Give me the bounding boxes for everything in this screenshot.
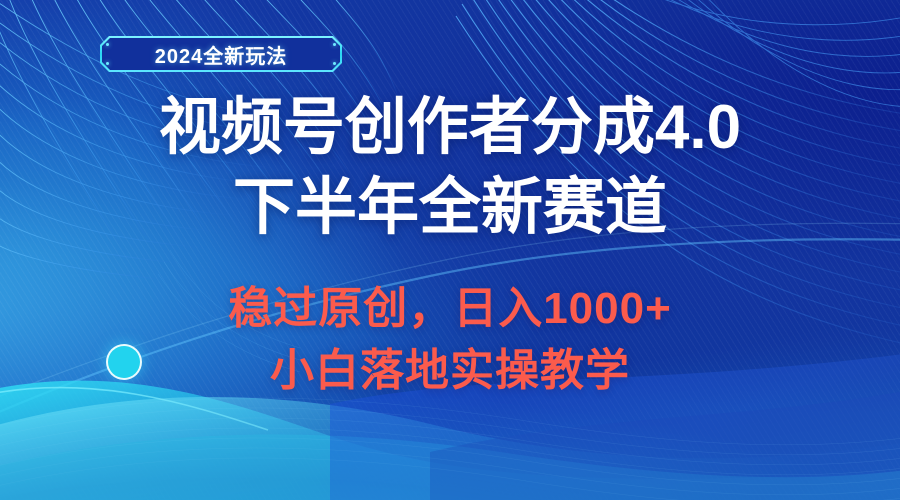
promo-badge-label: 2024全新玩法 — [100, 36, 342, 72]
subtitle-line-1: 稳过原创，日入1000+ — [0, 278, 900, 340]
background-diagonal-stripe-texture — [0, 0, 900, 500]
background-bottom-wave-glow — [0, 0, 900, 500]
subtitle-block: 稳过原创，日入1000+ 小白落地实操教学 — [0, 278, 900, 402]
promo-poster: 2024全新玩法 视频号创作者分成4.0 下半年全新赛道 稳过原创，日入1000… — [0, 0, 900, 500]
wavy-line-pattern-top-right — [0, 0, 900, 500]
headline-block: 视频号创作者分成4.0 下半年全新赛道 — [0, 88, 900, 248]
background-left-glow — [0, 0, 900, 500]
promo-badge: 2024全新玩法 — [100, 36, 342, 72]
background-gradient — [0, 0, 900, 500]
headline-line-1: 视频号创作者分成4.0 — [0, 88, 900, 168]
bottom-hatch-texture — [0, 398, 900, 500]
headline-line-2: 下半年全新赛道 — [0, 168, 900, 248]
accent-dot-icon — [106, 344, 142, 380]
